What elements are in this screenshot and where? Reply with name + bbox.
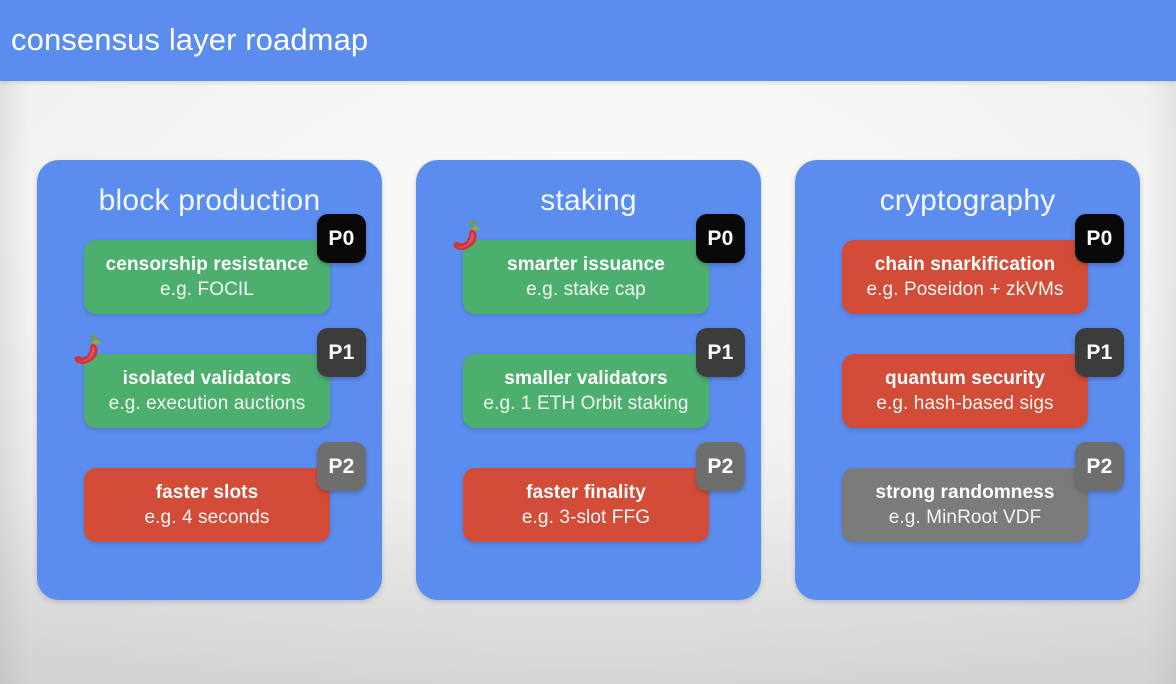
priority-badge: P0 bbox=[1075, 214, 1124, 263]
roadmap-card[interactable]: faster slots e.g. 4 seconds bbox=[84, 468, 330, 542]
card-title: faster finality bbox=[526, 481, 646, 505]
priority-badge: P1 bbox=[696, 328, 745, 377]
card-subtitle: e.g. hash-based sigs bbox=[876, 391, 1053, 416]
roadmap-item: faster slots e.g. 4 seconds P2 bbox=[45, 468, 374, 542]
card-title: smarter issuance bbox=[507, 253, 665, 277]
card-subtitle: e.g. execution auctions bbox=[109, 391, 306, 416]
roadmap-card[interactable]: censorship resistance e.g. FOCIL bbox=[84, 240, 330, 314]
roadmap-item: quantum security e.g. hash-based sigs P1 bbox=[803, 354, 1132, 428]
priority-badge: P0 bbox=[696, 214, 745, 263]
roadmap-item: strong randomness e.g. MinRoot VDF P2 bbox=[803, 468, 1132, 542]
priority-badge: P1 bbox=[1075, 328, 1124, 377]
slide-canvas: consensus layer roadmap block production… bbox=[0, 0, 1176, 684]
column-card-list: smarter issuance e.g. stake cap P0 bbox=[416, 240, 761, 542]
roadmap-column-cryptography: cryptography chain snarkification e.g. P… bbox=[795, 160, 1140, 600]
header-band: consensus layer roadmap bbox=[0, 0, 1176, 81]
priority-badge: P2 bbox=[317, 442, 366, 491]
roadmap-card[interactable]: chain snarkification e.g. Poseidon + zkV… bbox=[842, 240, 1088, 314]
card-subtitle: e.g. FOCIL bbox=[160, 277, 254, 302]
roadmap-item: chain snarkification e.g. Poseidon + zkV… bbox=[803, 240, 1132, 314]
card-subtitle: e.g. 1 ETH Orbit staking bbox=[483, 391, 688, 416]
column-card-list: censorship resistance e.g. FOCIL P0 isol… bbox=[37, 240, 382, 542]
card-title: strong randomness bbox=[875, 481, 1054, 505]
card-subtitle: e.g. Poseidon + zkVMs bbox=[867, 277, 1064, 302]
roadmap-card[interactable]: smarter issuance e.g. stake cap bbox=[463, 240, 709, 314]
roadmap-item: smaller validators e.g. 1 ETH Orbit stak… bbox=[424, 354, 753, 428]
roadmap-card[interactable]: faster finality e.g. 3-slot FFG bbox=[463, 468, 709, 542]
priority-badge: P2 bbox=[1075, 442, 1124, 491]
card-title: quantum security bbox=[885, 367, 1045, 391]
roadmap-columns: block production censorship resistance e… bbox=[37, 160, 1140, 600]
card-subtitle: e.g. 3-slot FFG bbox=[522, 505, 650, 530]
roadmap-item: smarter issuance e.g. stake cap P0 bbox=[424, 240, 753, 314]
roadmap-item: isolated validators e.g. execution aucti… bbox=[45, 354, 374, 428]
roadmap-card[interactable]: smaller validators e.g. 1 ETH Orbit stak… bbox=[463, 354, 709, 428]
roadmap-item: censorship resistance e.g. FOCIL P0 bbox=[45, 240, 374, 314]
roadmap-column-block-production: block production censorship resistance e… bbox=[37, 160, 382, 600]
roadmap-card[interactable]: quantum security e.g. hash-based sigs bbox=[842, 354, 1088, 428]
roadmap-column-staking: staking smarter issuance e.g. stake cap bbox=[416, 160, 761, 600]
card-title: faster slots bbox=[156, 481, 259, 505]
card-subtitle: e.g. 4 seconds bbox=[145, 505, 270, 530]
card-subtitle: e.g. stake cap bbox=[526, 277, 646, 302]
roadmap-item: faster finality e.g. 3-slot FFG P2 bbox=[424, 468, 753, 542]
roadmap-card[interactable]: strong randomness e.g. MinRoot VDF bbox=[842, 468, 1088, 542]
card-subtitle: e.g. MinRoot VDF bbox=[889, 505, 1042, 530]
card-title: smaller validators bbox=[504, 367, 667, 391]
priority-badge: P0 bbox=[317, 214, 366, 263]
card-title: chain snarkification bbox=[875, 253, 1055, 277]
roadmap-card[interactable]: isolated validators e.g. execution aucti… bbox=[84, 354, 330, 428]
page-title: consensus layer roadmap bbox=[11, 21, 368, 59]
priority-badge: P1 bbox=[317, 328, 366, 377]
card-title: isolated validators bbox=[123, 367, 292, 391]
card-title: censorship resistance bbox=[106, 253, 309, 277]
priority-badge: P2 bbox=[696, 442, 745, 491]
column-card-list: chain snarkification e.g. Poseidon + zkV… bbox=[795, 240, 1140, 542]
